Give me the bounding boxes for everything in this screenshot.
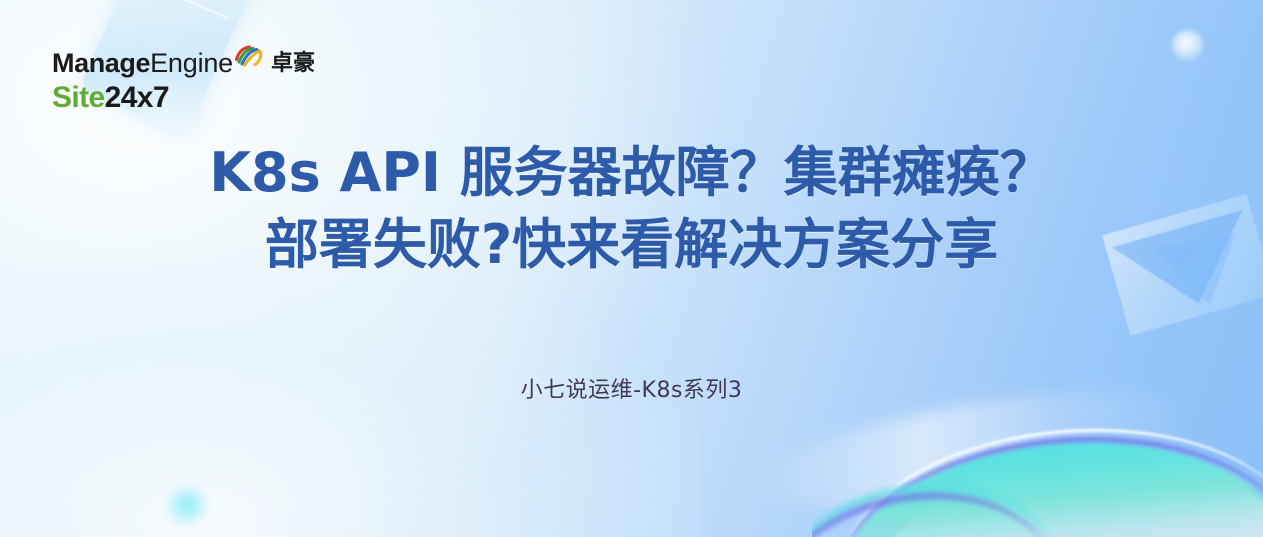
decorative-dot-bottom-left [166,486,208,528]
product-24x7-text: 24x7 [105,81,169,114]
brand-manage-text: Manage [52,50,150,77]
manageengine-wordmark: Manage Engine 卓豪 [52,50,315,77]
manageengine-site24x7-logo: Manage Engine 卓豪 Site24x7 [52,50,315,113]
wave-tail-cyan [812,454,1068,537]
wave-base-layer [845,438,1263,537]
brand-chinese-name: 卓豪 [271,53,315,75]
swoosh-icon [234,42,264,72]
headline-block: K8s API 服务器故障？集群瘫痪？ 部署失败?快来看解决方案分享 [0,138,1263,280]
wave-violet-edge [826,418,1263,537]
subtitle-text: 小七说运维-K8s系列3 [0,372,1263,404]
brand-engine-text: Engine [150,50,233,77]
headline-line-1: K8s API 服务器故障？集群瘫痪？ [0,138,1263,208]
decorative-dot-top-right [1172,30,1204,62]
banner-canvas: Manage Engine 卓豪 Site24x7 K8s API 服务器故障？… [0,0,1263,537]
site24x7-wordmark: Site24x7 [52,83,315,113]
headline-line-2: 部署失败?快来看解决方案分享 [0,210,1263,280]
wave-tail-violet [812,464,1064,537]
decorative-holographic-wave [812,400,1263,537]
wave-highlight-edge [830,410,1263,537]
product-site-text: Site [52,81,105,114]
wave-cyan-layer [820,422,1263,537]
